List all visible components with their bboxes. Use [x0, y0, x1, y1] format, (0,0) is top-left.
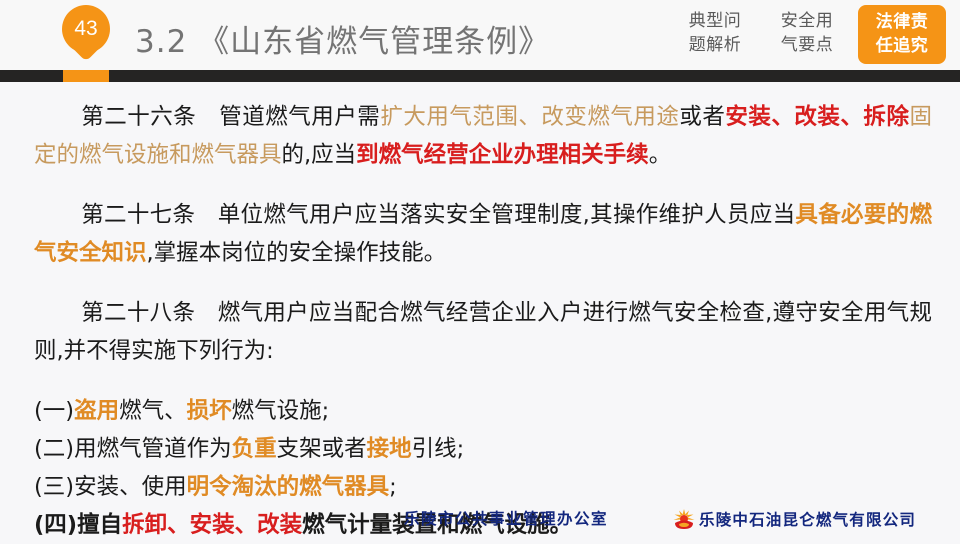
- list-item-part: 用燃气管道作为: [74, 436, 232, 462]
- slide-root: 43 3.2 《山东省燃气管理条例》 典型问 题解析 安全用 气要点 法律责 任…: [0, 0, 960, 540]
- article-26-seg-7: 到燃气经营企业办理相关手续: [356, 142, 649, 168]
- article-28-paragraph: 第二十八条 燃气用户应当配合燃气经营企业入户进行燃气安全检查,遵守安全用气规则,…: [34, 294, 932, 370]
- article-27-paragraph: 第二十七条 单位燃气用户应当落实安全管理制度,其操作维护人员应当具备必要的燃气安…: [34, 196, 932, 272]
- list-item-part: 负重: [232, 436, 277, 462]
- article-27-number: 第二十七条: [81, 202, 195, 228]
- list-item-part: 损坏: [187, 398, 232, 424]
- tab-line-2: 任追究: [862, 34, 942, 58]
- cnpc-kunlun-logo-icon: [672, 508, 696, 530]
- list-item-marker: (二): [34, 436, 74, 462]
- slide-content: 第二十六条 管道燃气用户需扩大用气范围、改变燃气用途或者安装、改装、拆除固定的燃…: [34, 98, 932, 544]
- article-26-seg-3: 或者: [679, 104, 725, 130]
- article-26-seg-6: 的,应当: [282, 142, 357, 168]
- tab-legal-liability[interactable]: 法律责 任追究: [858, 5, 946, 64]
- tab-line-2: 气要点: [768, 33, 846, 57]
- footer-org-right-group: 乐陵中石油昆仑燃气有限公司: [672, 508, 916, 530]
- list-item: (二)用燃气管道作为负重支架或者接地引线;: [34, 430, 932, 468]
- slide-footer: 乐陵市公共事业管理办公室 乐陵中石油昆仑燃气有限公司: [0, 494, 960, 540]
- tab-typical-problems[interactable]: 典型问 题解析: [674, 5, 756, 62]
- list-item-part: 盗用: [74, 398, 119, 424]
- list-item: (一)盗用燃气、损坏燃气设施;: [34, 392, 932, 430]
- article-26-seg-8: 。: [649, 142, 672, 168]
- list-item-part: 燃气、: [119, 398, 187, 424]
- tab-safety-points[interactable]: 安全用 气要点: [766, 5, 848, 62]
- tab-line-1: 典型问: [676, 9, 754, 33]
- article-27-seg-1: 单位燃气用户应当落实安全管理制度,其操作维护人员应当: [218, 202, 796, 228]
- header-band-accent: [63, 70, 109, 82]
- article-26-seg-4: 安装、改装、拆除: [725, 104, 909, 130]
- list-item-part: 接地: [367, 436, 412, 462]
- slide-header: 43 3.2 《山东省燃气管理条例》 典型问 题解析 安全用 气要点 法律责 任…: [0, 0, 960, 88]
- list-item-marker: (一): [34, 398, 74, 424]
- tab-line-2: 题解析: [676, 33, 754, 57]
- header-tabs: 典型问 题解析 安全用 气要点 法律责 任追究: [674, 5, 946, 64]
- article-27-seg-3: ,掌握本岗位的安全操作技能。: [147, 240, 447, 266]
- slide-number-pin: 43: [62, 5, 110, 67]
- tab-line-1: 安全用: [768, 9, 846, 33]
- footer-org-left: 乐陵市公共事业管理办公室: [404, 507, 608, 529]
- list-item-part: 燃气设施;: [232, 398, 330, 424]
- list-item-part: 支架或者: [277, 436, 367, 462]
- article-26-paragraph: 第二十六条 管道燃气用户需扩大用气范围、改变燃气用途或者安装、改装、拆除固定的燃…: [34, 98, 932, 174]
- header-dark-band: [0, 70, 960, 82]
- article-26-seg-2: 扩大用气范围、改变燃气用途: [380, 104, 679, 130]
- article-26-seg-1: 管道燃气用户需: [219, 104, 380, 130]
- page-title: 3.2 《山东省燃气管理条例》: [135, 16, 550, 61]
- footer-org-right: 乐陵中石油昆仑燃气有限公司: [699, 508, 916, 530]
- slide-number-label: 43: [62, 5, 110, 53]
- list-item-part: 引线;: [412, 436, 465, 462]
- tab-line-1: 法律责: [862, 10, 942, 34]
- article-26-number: 第二十六条: [81, 104, 196, 130]
- article-28-number: 第二十八条: [81, 300, 195, 326]
